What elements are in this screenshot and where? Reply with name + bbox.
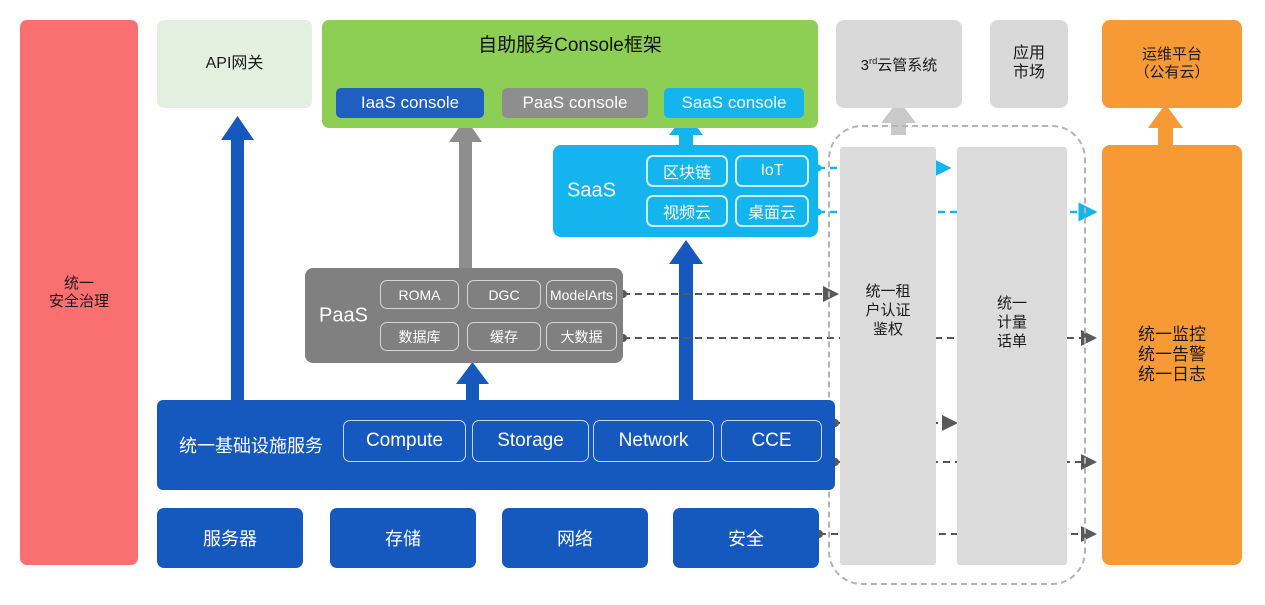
paas-layer-label: PaaS: [319, 304, 368, 327]
api-gateway-box[interactable]: API网关: [157, 20, 312, 108]
infra-box-network-label: 网络: [557, 525, 593, 551]
iaas-service-cce[interactable]: CCE: [721, 420, 822, 462]
console-framework-title: 自助服务Console框架: [322, 30, 818, 57]
ops-platform-public-cloud-box[interactable]: 运维平台 （公有云）: [1102, 20, 1242, 108]
saas-service-iot[interactable]: IoT: [735, 155, 809, 187]
saas-service-desktop-cloud[interactable]: 桌面云: [735, 195, 809, 227]
saas-console-chip[interactable]: SaaS console: [664, 88, 804, 118]
iaas-service-network[interactable]: Network: [593, 420, 714, 462]
unified-monitoring-panel[interactable]: 统一监控 统一告警 统一日志: [1102, 145, 1242, 565]
infra-box-server[interactable]: 服务器: [157, 508, 303, 568]
paas-service-modelarts[interactable]: ModelArts: [546, 280, 617, 309]
infra-box-network[interactable]: 网络: [502, 508, 648, 568]
paas-layer[interactable]: PaaS ROMA DGC ModelArts 数据库 缓存 大数据: [305, 268, 623, 363]
arrow-paas-to-console: [449, 118, 482, 268]
saas-service-blockchain[interactable]: 区块链: [646, 155, 728, 187]
infra-box-security[interactable]: 安全: [673, 508, 819, 568]
shared-service-column-auth[interactable]: [840, 147, 936, 565]
arrow-iaas-to-api-gateway: [221, 116, 254, 401]
infra-box-storage[interactable]: 存储: [330, 508, 476, 568]
unified-monitoring-panel-label: 统一监控 统一告警 统一日志: [1138, 325, 1206, 385]
self-service-console-framework[interactable]: 自助服务Console框架 IaaS console PaaS console …: [322, 20, 818, 128]
paas-service-roma[interactable]: ROMA: [380, 280, 459, 309]
shared-service-metering-label: 统一 计量 话单: [957, 295, 1067, 351]
shared-service-auth-label: 统一租 户认证 鉴权: [840, 283, 936, 339]
paas-service-cache[interactable]: 缓存: [467, 322, 541, 351]
saas-layer[interactable]: SaaS 区块链 IoT 视频云 桌面云: [553, 145, 818, 237]
paas-console-chip[interactable]: PaaS console: [502, 88, 648, 118]
unified-security-governance-panel[interactable]: 统一 安全治理: [20, 20, 138, 565]
third-party-label-pre: 3: [861, 57, 869, 74]
saas-layer-label: SaaS: [567, 180, 616, 203]
shared-service-column-metering[interactable]: [957, 147, 1067, 565]
saas-service-video-cloud[interactable]: 视频云: [646, 195, 728, 227]
app-market-label: 应用 市场: [1013, 45, 1045, 83]
infra-box-server-label: 服务器: [203, 525, 257, 551]
third-party-label: 3rd云管系统: [861, 54, 938, 75]
iaas-console-chip[interactable]: IaaS console: [336, 88, 484, 118]
arrow-iaas-to-paas: [456, 362, 489, 401]
paas-service-database[interactable]: 数据库: [380, 322, 459, 351]
third-party-label-post: 云管系统: [877, 57, 937, 74]
unified-infrastructure-service-label: 统一基础设施服务: [179, 432, 323, 458]
third-party-cloud-management-box[interactable]: 3rd云管系统: [836, 20, 962, 108]
iaas-service-storage[interactable]: Storage: [472, 420, 589, 462]
app-market-box[interactable]: 应用 市场: [990, 20, 1068, 108]
architecture-diagram: 统一租 户认证 鉴权 统一 计量 话单 统一 安全治理 API网关 自助服务Co…: [0, 0, 1265, 605]
infra-box-security-label: 安全: [728, 525, 764, 551]
arrow-iaas-to-saas: [669, 240, 703, 401]
infra-box-storage-label: 存储: [385, 525, 421, 551]
unified-infrastructure-service-bar[interactable]: 统一基础设施服务 Compute Storage Network CCE: [157, 400, 835, 490]
paas-service-bigdata[interactable]: 大数据: [546, 322, 617, 351]
arrow-ops-panel-to-ops-top: [1148, 104, 1183, 146]
unified-security-governance-label: 统一 安全治理: [49, 275, 109, 310]
api-gateway-label: API网关: [206, 55, 264, 74]
iaas-service-compute[interactable]: Compute: [343, 420, 466, 462]
ops-platform-public-cloud-label: 运维平台 （公有云）: [1134, 46, 1209, 81]
paas-service-dgc[interactable]: DGC: [467, 280, 541, 309]
